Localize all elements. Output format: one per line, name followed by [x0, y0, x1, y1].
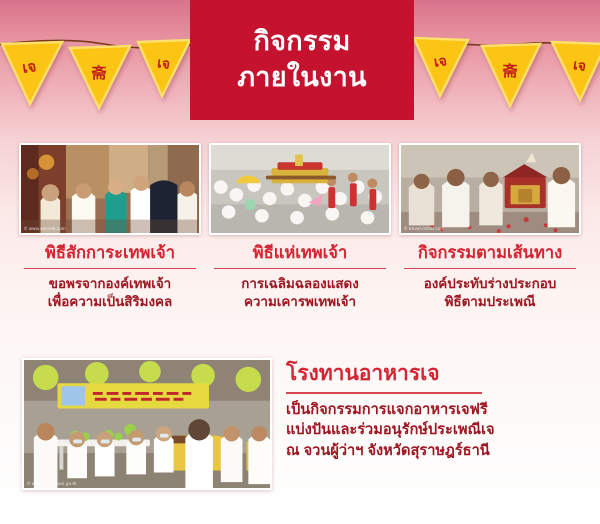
activity-card: © travel.mthai.com กิจกรรมตามเส้นทาง องค… [399, 143, 581, 311]
poster-root: เจ 斋 เจ เจ [0, 0, 600, 524]
activity-photo-procession [209, 143, 391, 235]
activity-card-body-line-1: ขอพรจากองค์เทพเจ้า [19, 275, 201, 293]
header-banner: กิจกรรม ภายในงาน [190, 0, 414, 120]
feature-body-line-1: เป็นกิจกรรมการแจกอาหารเจฟรี [286, 400, 578, 421]
card-divider [214, 268, 385, 269]
bunting-flag-left-3: เจ [138, 40, 190, 96]
activity-card-title: พิธีสักการะเทพเจ้า [19, 244, 201, 263]
feature-text-block: โรงทานอาหารเจ เป็นกิจกรรมการแจกอาหารเจฟร… [286, 358, 578, 490]
feature-body-line-2: แบ่งปันและร่วมอนุรักษ์ประเพณีเจ [286, 420, 578, 441]
activity-card-body-line-2: ความเคารพเทพเจ้า [209, 293, 391, 311]
activity-photo-route: © travel.mthai.com [399, 143, 581, 235]
svg-text:斋: 斋 [501, 62, 518, 80]
activity-card-row: © www.sanook.com พิธีสักการะเทพเจ้า ขอพร… [0, 143, 600, 311]
card-divider [24, 268, 195, 269]
activity-card-body: การเฉลิมฉลองแสดง ความเคารพเทพเจ้า [209, 275, 391, 311]
svg-text:เจ: เจ [21, 58, 37, 77]
photo-watermark: © travel.mthai.com [404, 226, 444, 231]
activity-card-body: ขอพรจากองค์เทพเจ้า เพื่อความเป็นสิริมงคล [19, 275, 201, 311]
page-title-line-1: กิจกรรม [253, 26, 350, 58]
activity-card-body-line-1: องค์ประทับร่างประกอบ [399, 275, 581, 293]
activity-card: พิธีแห่เทพเจ้า การเฉลิมฉลองแสดง ความเคาร… [209, 143, 391, 311]
svg-text:เจ: เจ [433, 52, 448, 70]
feature-body: เป็นกิจกรรมการแจกอาหารเจฟรี แบ่งปันและร่… [286, 400, 578, 462]
activity-photo-worship: © www.sanook.com [19, 143, 201, 235]
page-title-line-2: ภายในงาน [237, 62, 367, 94]
bunting-flag-left-1: เจ [2, 42, 62, 104]
activity-card-body: องค์ประทับร่างประกอบ พิธีตามประเพณี [399, 275, 581, 311]
activity-card-body-line-1: การเฉลิมฉลองแสดง [209, 275, 391, 293]
feature-divider [286, 392, 482, 394]
svg-text:斋: 斋 [90, 64, 107, 82]
photo-watermark: © www.suratthani.go.th [27, 481, 77, 486]
bunting-flag-left-2: 斋 [70, 46, 130, 108]
activity-card-body-line-2: เพื่อความเป็นสิริมงคล [19, 293, 201, 311]
feature-title: โรงทานอาหารเจ [286, 362, 578, 385]
bunting-flag-right-1: เจ [414, 38, 468, 96]
svg-text:เจ: เจ [156, 54, 171, 72]
feature-photo-food-charity: © www.suratthani.go.th [22, 358, 272, 490]
feature-body-line-3: ณ จวนผู้ว่าฯ จังหวัดสุราษฎร์ธานี [286, 441, 578, 462]
card-divider [404, 268, 575, 269]
photo-watermark: © www.sanook.com [24, 226, 66, 231]
bunting-flag-right-2: 斋 [482, 44, 540, 106]
activity-card-body-line-2: พิธีตามประเพณี [399, 293, 581, 311]
activity-card-title: กิจกรรมตามเส้นทาง [399, 244, 581, 263]
svg-text:เจ: เจ [572, 56, 587, 74]
feature-block: © www.suratthani.go.th โรงทานอาหารเจ เป็… [0, 358, 600, 490]
activity-card: © www.sanook.com พิธีสักการะเทพเจ้า ขอพร… [19, 143, 201, 311]
activity-card-title: พิธีแห่เทพเจ้า [209, 244, 391, 263]
bunting-flag-right-3: เจ [552, 42, 600, 100]
